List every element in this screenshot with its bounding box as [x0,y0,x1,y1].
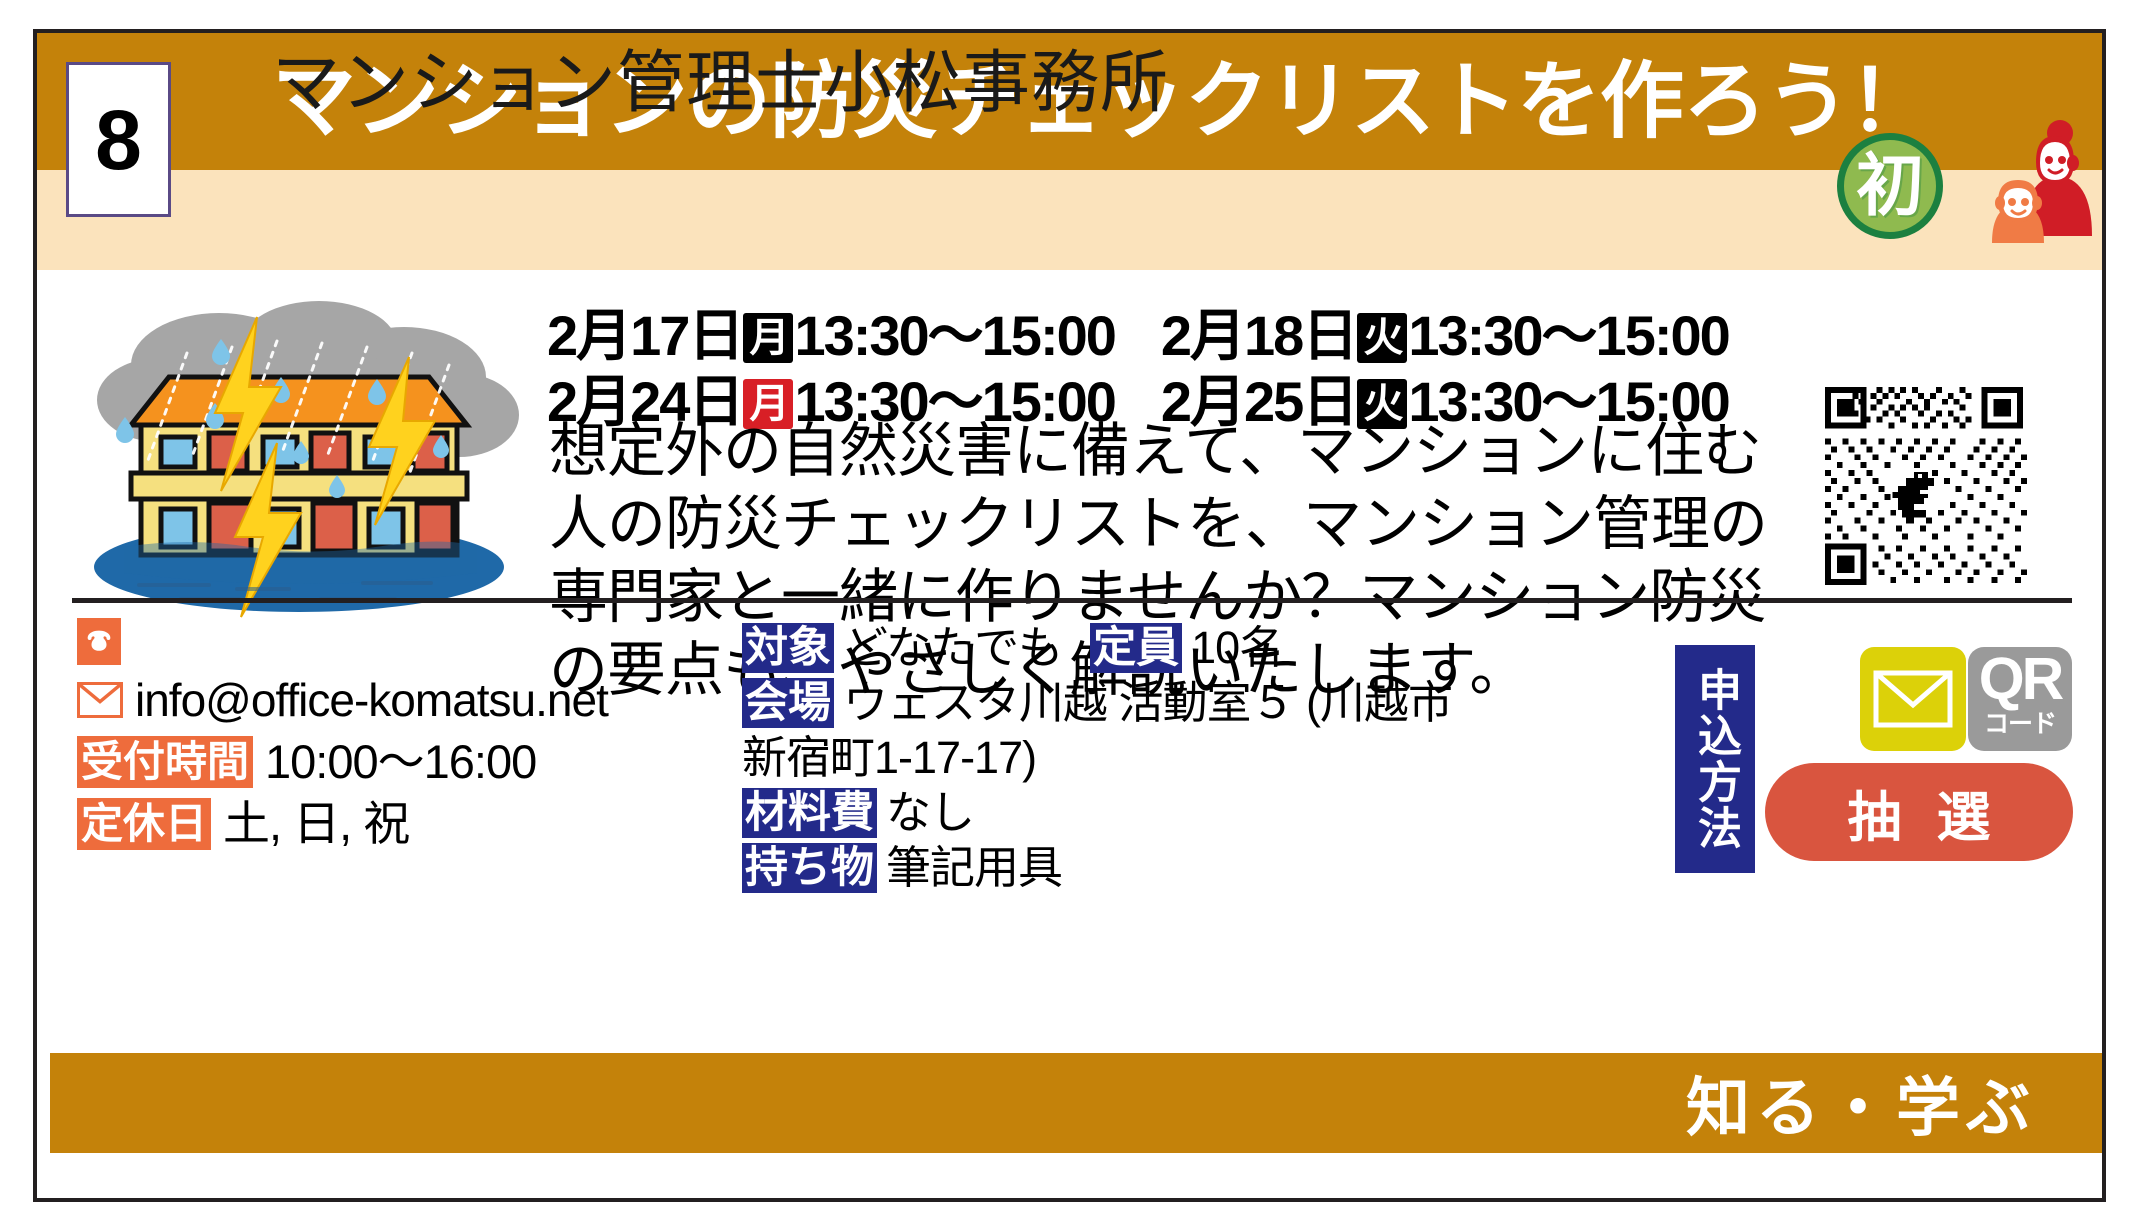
mail-icon [77,682,123,718]
schedule-dow-badge: 火 [1357,313,1407,363]
target-value: どなたでも [843,622,1062,674]
event-number: 8 [95,98,142,182]
detail-row-target: 対象どなたでも定員10名 [742,621,1622,675]
hours-value: 10:00〜16:00 [265,735,536,789]
email-row: info@office-komatsu.net [77,673,607,727]
details-block: 対象どなたでも定員10名 会場ウェスタ川越 活動室５ (川越市 新宿町1-17-… [742,621,1622,896]
materials-label: 材料費 [742,788,877,838]
qr-code [1789,371,2059,601]
application-method-label: 申込方法 [1675,645,1755,873]
hours-row: 受付時間 10:00〜16:00 [77,735,607,789]
event-card: マンションの防災チェックリストを作ろう！ マンション管理士小松事務所 8 初 2… [33,29,2106,1202]
lottery-badge: 抽 選 [1765,763,2073,861]
level-badge-label: 初 [1856,152,1924,220]
category-banner: 知る・学ぶ [50,1053,2106,1153]
subtitle-band [37,170,2102,270]
bring-label: 持ち物 [742,843,877,893]
venue-address-continued: 新宿町1-17-17) [742,732,1036,784]
hours-label: 受付時間 [77,736,253,788]
organizer-name: マンション管理士小松事務所 [272,35,1169,131]
venue-label: 会場 [742,678,834,728]
capacity-label: 定員 [1090,623,1182,673]
contact-block: info@office-komatsu.net 受付時間 10:00〜16:00… [77,618,607,859]
detail-row-venue: 会場ウェスタ川越 活動室５ (川越市 [742,676,1622,730]
apartment-storm-illustration [69,295,529,645]
application-block: 申込方法 QR コード 抽 選 [1665,615,2075,935]
closed-label: 定休日 [77,798,211,850]
schedule-item: 2月17日月13:30〜15:00 [547,305,1115,367]
detail-row-materials: 材料費なし [742,786,1622,840]
bring-value: 筆記用具 [886,842,1062,894]
schedule-item: 2月18日火13:30〜15:00 [1161,305,1729,367]
email-address[interactable]: info@office-komatsu.net [135,673,608,727]
qr-icon-label: QR [1968,647,2072,711]
envelope-icon [1860,647,1966,751]
schedule-time: 13:30〜15:00 [794,304,1114,367]
mascot-illustration [1952,118,2102,243]
capacity-value: 10名 [1191,622,1283,674]
schedule-row: 2月17日月13:30〜15:002月18日火13:30〜15:00 [547,305,1807,367]
closed-value: 土, 日, 祝 [223,797,409,851]
venue-value: ウェスタ川越 活動室５ (川越市 [843,677,1452,729]
closed-row: 定休日 土, 日, 祝 [77,797,607,851]
phone-icon [77,618,121,665]
qr-code-icon: QR コード [1968,647,2072,751]
schedule-time: 13:30〜15:00 [1408,304,1728,367]
phone-row [77,618,607,665]
qr-icon-sublabel: コード [1968,711,2072,737]
detail-row-venue-cont: 新宿町1-17-17) [742,731,1622,785]
schedule-date: 2月17日 [547,304,742,367]
materials-value: なし [886,787,974,839]
schedule-dow-badge: 月 [743,313,793,363]
schedule-date: 2月18日 [1161,304,1356,367]
target-label: 対象 [742,623,834,673]
event-number-box: 8 [66,62,171,217]
level-badge: 初 [1837,133,1943,239]
section-divider [72,598,2072,603]
detail-row-bring: 持ち物筆記用具 [742,841,1622,895]
